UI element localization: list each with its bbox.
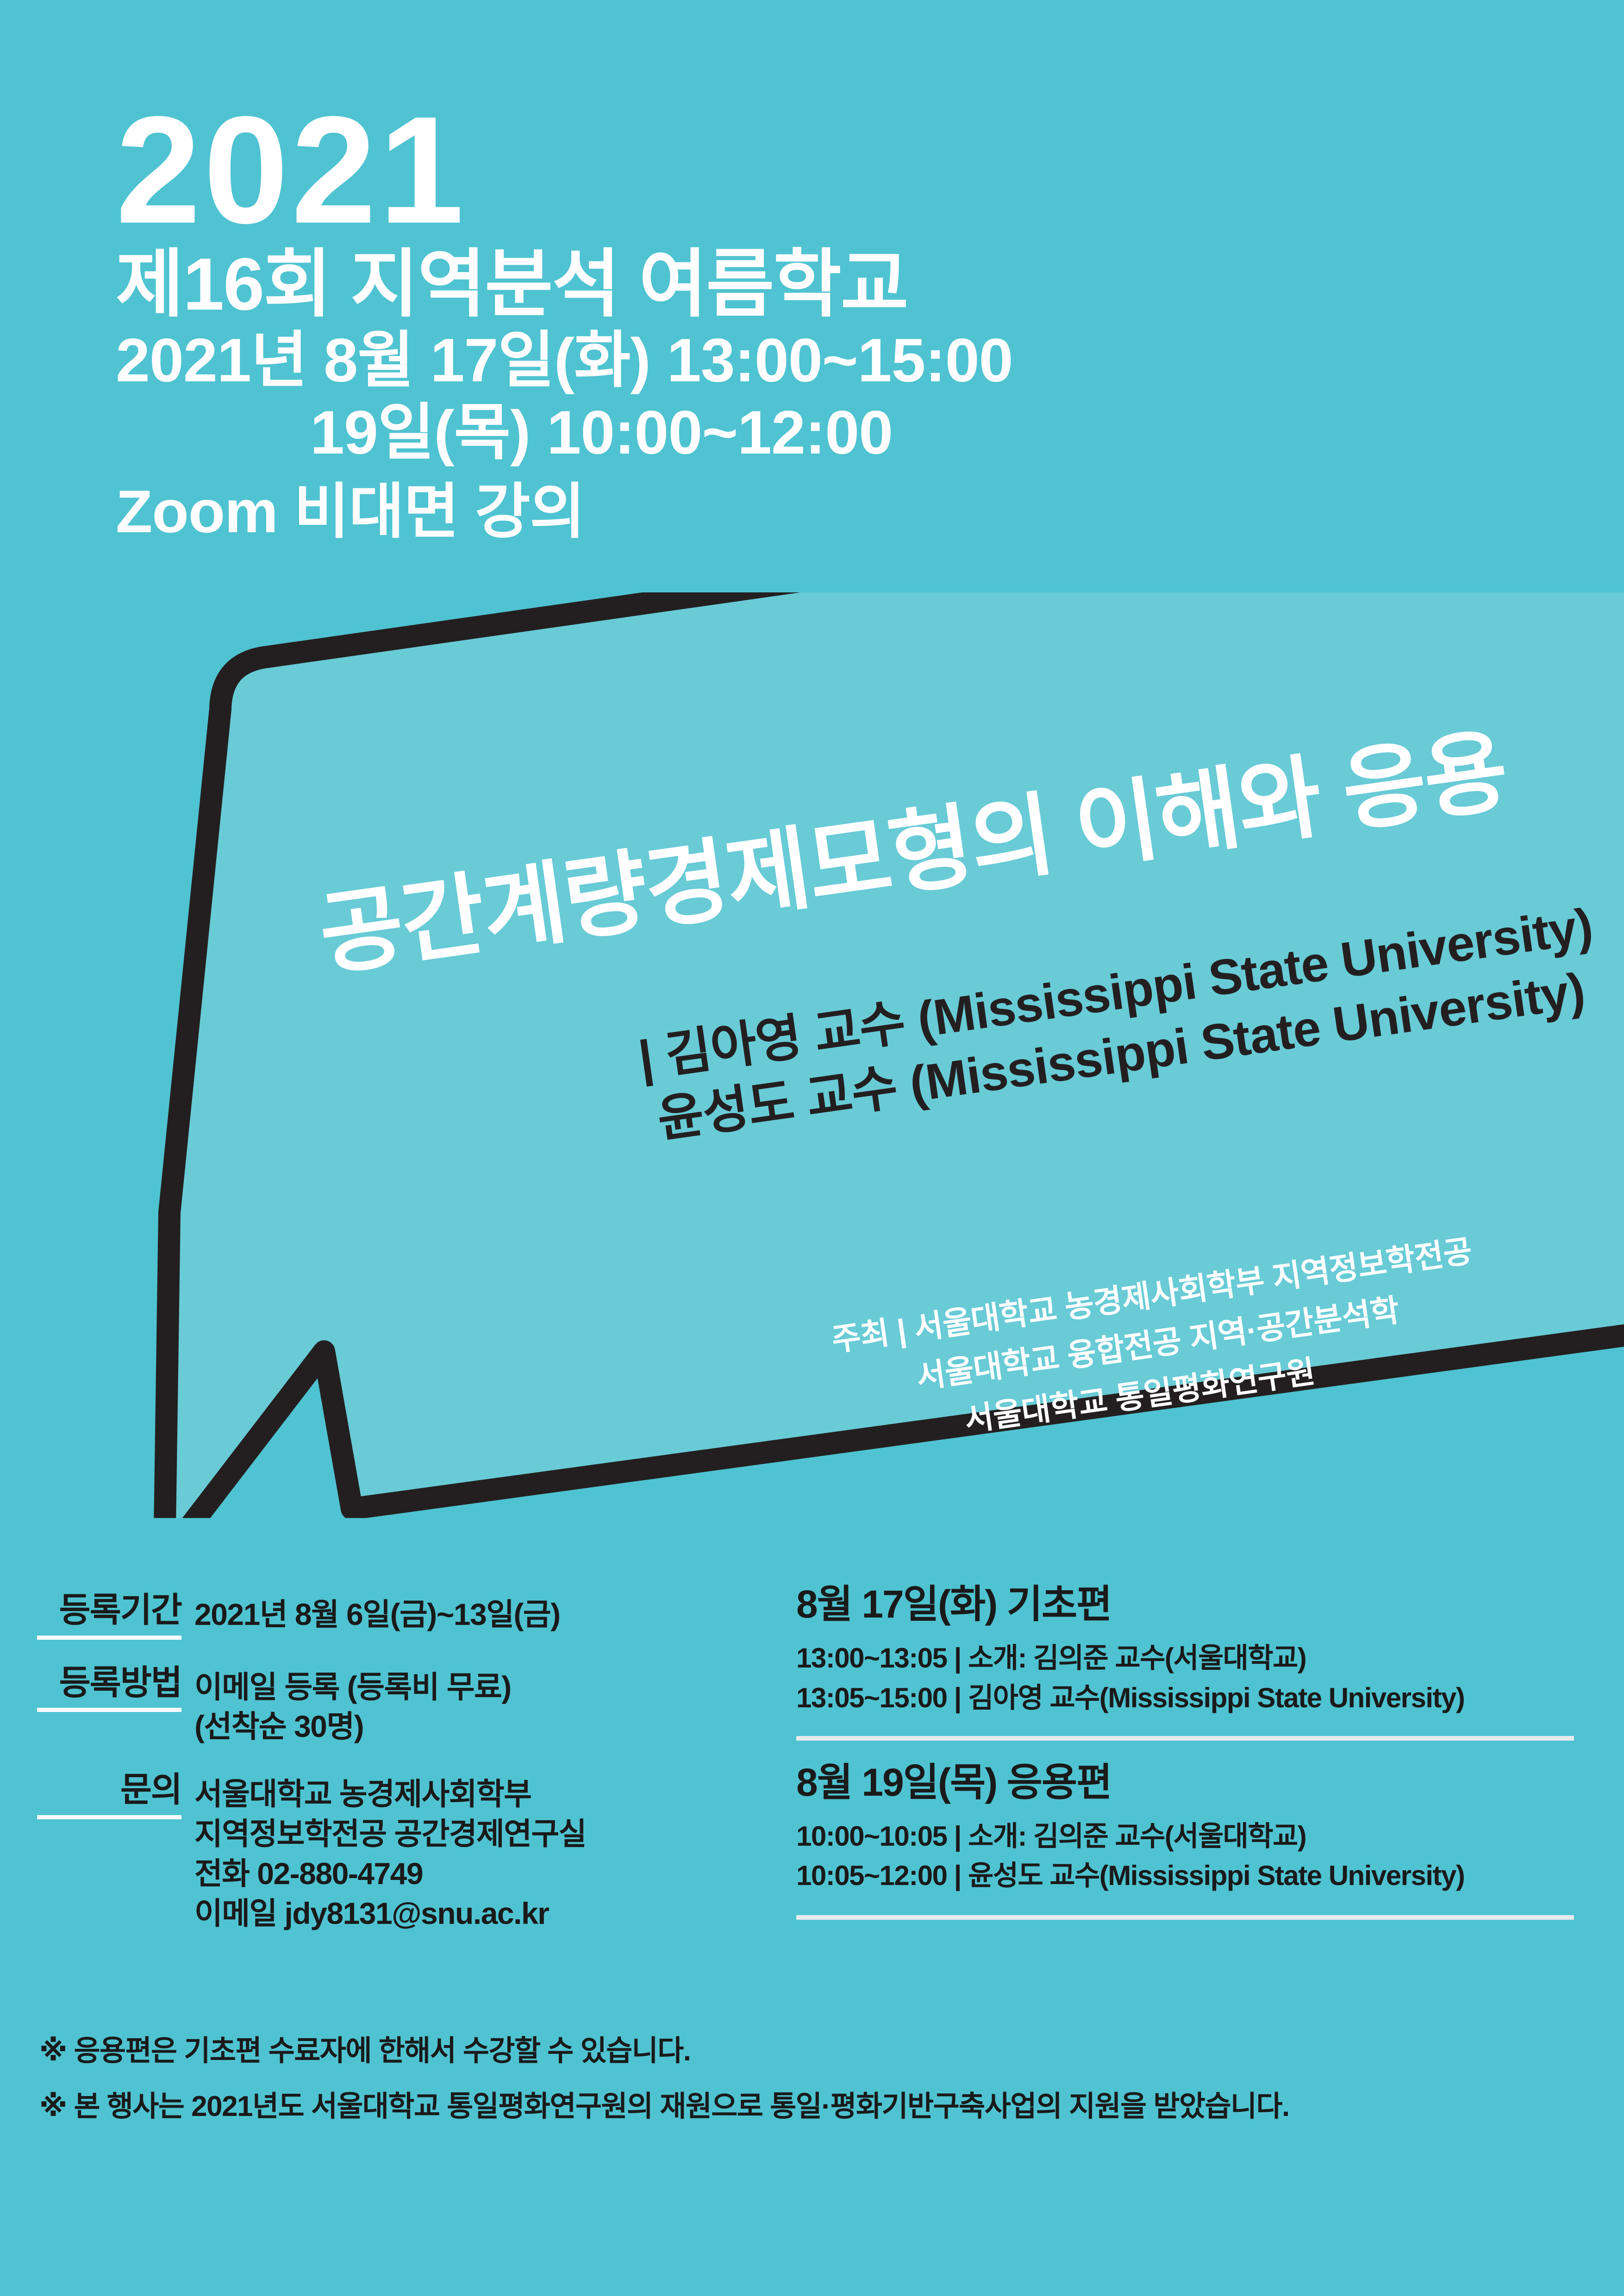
schedule-item: 13:00~13:05 | 소개: 김의준 교수(서울대학교) [796,1638,1574,1678]
event-venue: Zoom 비대면 강의 [116,475,1319,548]
info-value-line: 이메일 등록 (등록비 무료) [194,1668,511,1707]
schedule-block-day2: 8월 19일(목) 응용편 10:00~10:05 | 소개: 김의준 교수(서… [796,1761,1574,1896]
info-value-registration-period: 2021년 8월 6일(금)~13일(금) [194,1592,560,1635]
info-value-contact: 서울대학교 농경제사회학부 지역정보학전공 공간경제연구실 전화 02-880-… [194,1772,586,1933]
info-label-box: 등록기간 [37,1592,194,1640]
schedule-item: 10:00~10:05 | 소개: 김의준 교수(서울대학교) [796,1817,1574,1856]
label-underline [37,1815,181,1819]
contact-email: 이메일 jdy8131@snu.ac.kr [194,1894,586,1934]
info-label-registration-period: 등록기간 [59,1592,181,1628]
info-row-registration-method: 등록방법 이메일 등록 (등록비 무료) (선착순 30명) [37,1665,731,1747]
info-row-contact: 문의 서울대학교 농경제사회학부 지역정보학전공 공간경제연구실 전화 02-8… [37,1772,731,1933]
event-date-line-1: 2021년 8월 17일(화) 13:00~15:00 [116,325,1319,397]
footnote-2: ※ 본 행사는 2021년도 서울대학교 통일평화연구원의 재원으로 통일·평화… [39,2090,1567,2124]
info-value-line: (선착순 30명) [194,1707,511,1747]
info-value-line: 지역정보학전공 공간경제연구실 [194,1814,586,1854]
event-subtitle: 제16회 지역분석 여름학교 [116,245,1319,324]
event-datelines: 2021년 8월 17일(화) 13:00~15:00 19일(목) 10:00… [116,325,1319,469]
info-value-line: 서울대학교 농경제사회학부 [194,1774,586,1814]
info-label-box: 문의 [37,1772,194,1819]
event-year: 2021 [116,100,1319,240]
schedule-heading-day2: 8월 19일(목) 응용편 [796,1761,1574,1804]
poster-root: 2021 제16회 지역분석 여름학교 2021년 8월 17일(화) 13:0… [0,0,1624,2296]
schedule-divider [796,1915,1574,1920]
schedule-item: 13:05~15:00 | 김아영 교수(Mississippi State U… [796,1678,1574,1717]
label-underline [37,1708,181,1712]
info-label-box: 등록방법 [37,1665,194,1712]
footnote-1: ※ 응용편은 기초편 수료자에 한해서 수강할 수 있습니다. [39,2034,1567,2068]
schedule-column: 8월 17일(화) 기초편 13:00~13:05 | 소개: 김의준 교수(서… [796,1583,1574,1920]
footnotes-block: ※ 응용편은 기초편 수료자에 한해서 수강할 수 있습니다. ※ 본 행사는 … [39,2034,1567,2146]
schedule-item: 10:05~12:00 | 윤성도 교수(Mississippi State U… [796,1856,1574,1895]
contact-phone: 전화 02-880-4749 [194,1854,586,1894]
label-underline [37,1636,181,1640]
info-label-contact: 문의 [120,1772,181,1808]
schedule-divider [796,1736,1574,1741]
info-label-registration-method: 등록방법 [59,1665,181,1701]
schedule-heading-day1: 8월 17일(화) 기초편 [796,1583,1574,1625]
registration-info: 등록기간 2021년 8월 6일(금)~13일(금) 등록방법 이메일 등록 (… [37,1592,731,1958]
event-date-line-2: 19일(목) 10:00~12:00 [116,397,1319,469]
schedule-block-day1: 8월 17일(화) 기초편 13:00~13:05 | 소개: 김의준 교수(서… [796,1583,1574,1717]
poster-header: 2021 제16회 지역분석 여름학교 2021년 8월 17일(화) 13:0… [116,100,1319,548]
info-value-registration-method: 이메일 등록 (등록비 무료) (선착순 30명) [194,1665,511,1747]
info-value-line: 2021년 8월 6일(금)~13일(금) [194,1595,560,1635]
info-row-registration-period: 등록기간 2021년 8월 6일(금)~13일(금) [37,1592,731,1640]
